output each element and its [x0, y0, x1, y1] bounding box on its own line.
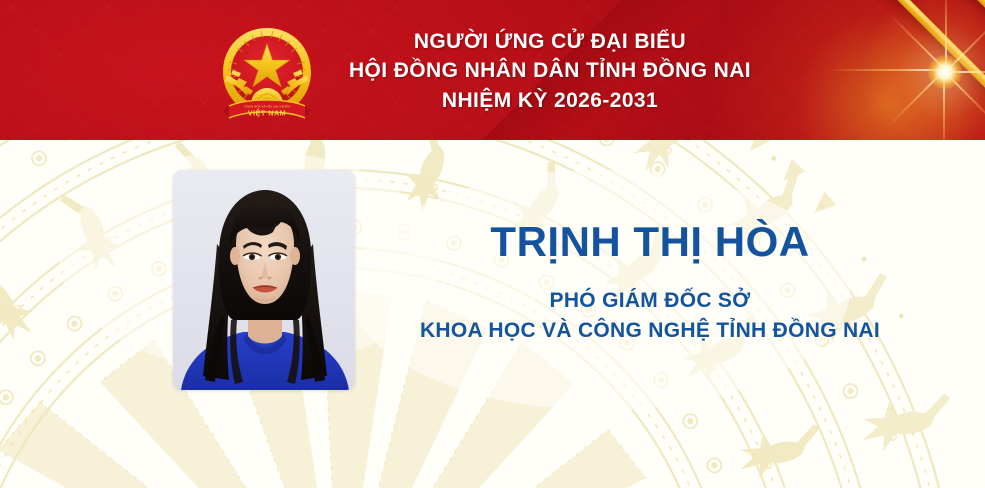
- header-line-3: NHIỆM KỲ 2026-2031: [330, 85, 770, 116]
- header-line-1: NGƯỜI ỨNG CỬ ĐẠI BIỂU: [330, 28, 770, 56]
- header-banner: CỘNG HÒA XÃ HỘI CHỦ NGHĨA VIỆT NAM NGƯỜI…: [0, 0, 985, 140]
- candidate-title-block: PHÓ GIÁM ĐỐC SỞ KHOA HỌC VÀ CÔNG NGHỆ TỈ…: [380, 286, 920, 346]
- candidate-photo: [173, 170, 355, 390]
- candidate-campaign-card: CỘNG HÒA XÃ HỘI CHỦ NGHĨA VIỆT NAM NGƯỜI…: [0, 0, 985, 488]
- header-title-block: NGƯỜI ỨNG CỬ ĐẠI BIỂU HỘI ĐỒNG NHÂN DÂN …: [330, 28, 770, 116]
- candidate-title-line-2: KHOA HỌC VÀ CÔNG NGHỆ TỈNH ĐỒNG NAI: [380, 316, 920, 346]
- emblem-banner-text: VIỆT NAM: [248, 109, 286, 118]
- candidate-title-line-1: PHÓ GIÁM ĐỐC SỞ: [380, 286, 920, 316]
- body-panel: TRỊNH THỊ HÒA PHÓ GIÁM ĐỐC SỞ KHOA HỌC V…: [0, 140, 985, 488]
- header-line-2: HỘI ĐỒNG NHÂN DÂN TỈNH ĐỒNG NAI: [330, 56, 770, 85]
- candidate-name: TRỊNH THỊ HÒA: [400, 218, 900, 266]
- vietnam-emblem-icon: CỘNG HÒA XÃ HỘI CHỦ NGHĨA VIỆT NAM: [213, 18, 321, 126]
